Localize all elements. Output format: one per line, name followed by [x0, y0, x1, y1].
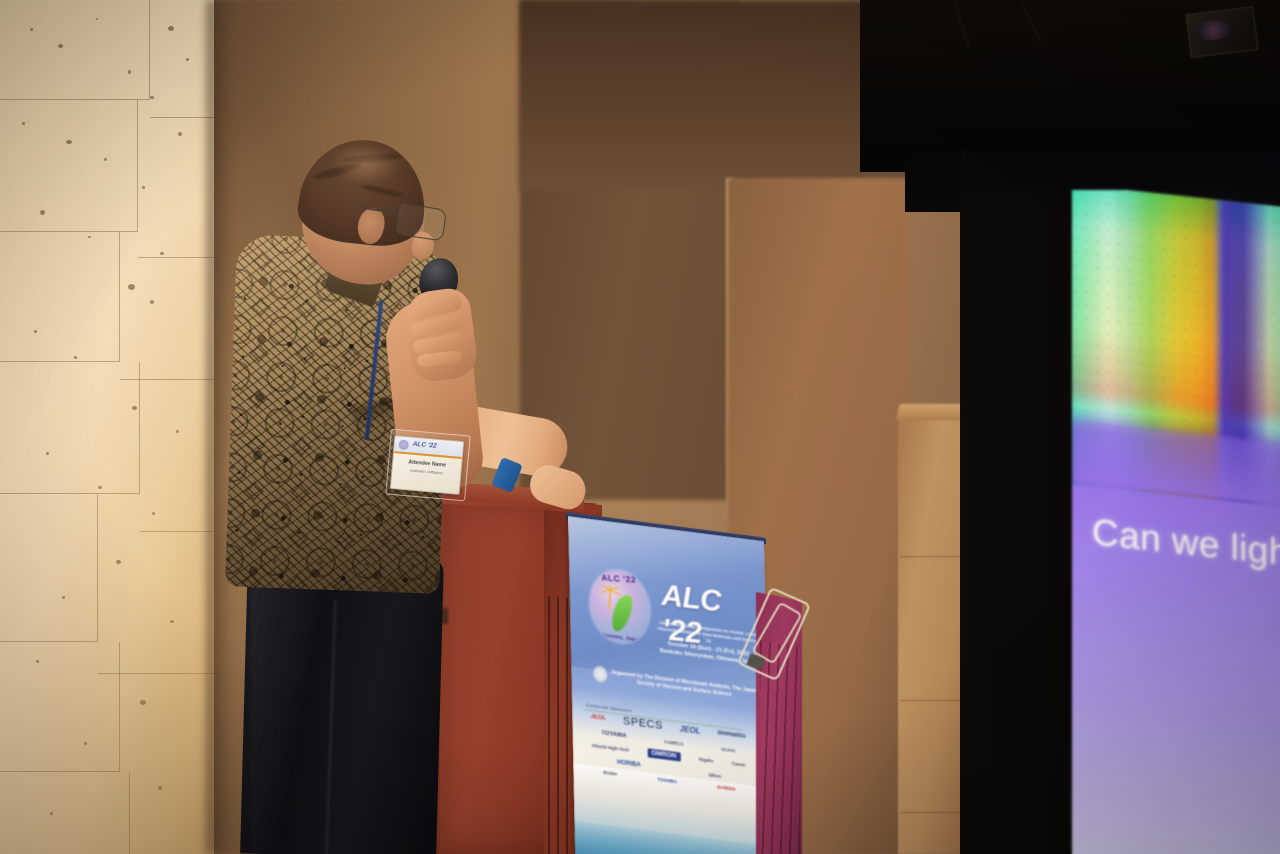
lectern-notch	[436, 608, 448, 624]
stone-block	[0, 772, 130, 854]
stone-block	[140, 380, 214, 532]
sponsor-logo: HORIBA	[617, 759, 641, 768]
alc-logo-icon: ALC '22 Okinawa, Japan	[589, 567, 650, 647]
sponsor-logo: TOYAMA	[601, 730, 626, 739]
vector-field-arrows-icon	[1072, 184, 1280, 450]
sponsor-logo: Rigaku	[699, 757, 714, 764]
sponsor-logo: Hitachi High-Tech	[592, 743, 629, 753]
screen-top-mask	[960, 150, 1280, 190]
stone-wall-shadow	[206, 0, 232, 854]
stone-block	[0, 232, 120, 362]
projection-screen: Can we ligh	[960, 150, 1280, 854]
stage-light-fixture-icon	[1186, 6, 1259, 58]
sponsor-logo: SCREEN	[717, 784, 735, 791]
stone-block	[138, 118, 214, 258]
stone-block	[0, 100, 138, 232]
sponsor-logo: ULVAC	[721, 746, 736, 753]
stone-block	[120, 258, 214, 380]
presentation-photo: Can we ligh ALC '22 Okinawa, Japan ALC '…	[0, 0, 1280, 854]
screen-left-shadow	[960, 150, 1076, 854]
stone-block	[98, 532, 214, 674]
sponsor-logo: JEOL	[680, 724, 701, 736]
sponsor-logo: Bruker	[603, 770, 617, 777]
alc-logo-top-text: ALC '22	[592, 572, 646, 599]
sponsor-logo: Nikon	[709, 772, 721, 779]
stone-block	[0, 362, 140, 494]
limestone-wall	[0, 0, 214, 854]
screen-surface: Can we ligh	[1072, 184, 1280, 854]
stone-block	[0, 494, 98, 642]
sponsor-logo: TOSHIBA	[657, 777, 677, 785]
stone-block	[120, 674, 214, 854]
sponsor-logo: CAMECA	[664, 739, 683, 746]
sponsor-logo: Canon	[732, 761, 746, 768]
sponsor-logo: Shimadzu	[717, 730, 745, 740]
stone-block	[150, 0, 214, 118]
sponsor-logo: OMRON	[647, 748, 680, 761]
conference-banner: ALC '22 Okinawa, Japan ALC '22 14th Inte…	[568, 516, 771, 854]
stone-block	[0, 642, 120, 772]
stone-block	[0, 0, 150, 100]
sponsor-logo: JEOL	[590, 714, 606, 722]
